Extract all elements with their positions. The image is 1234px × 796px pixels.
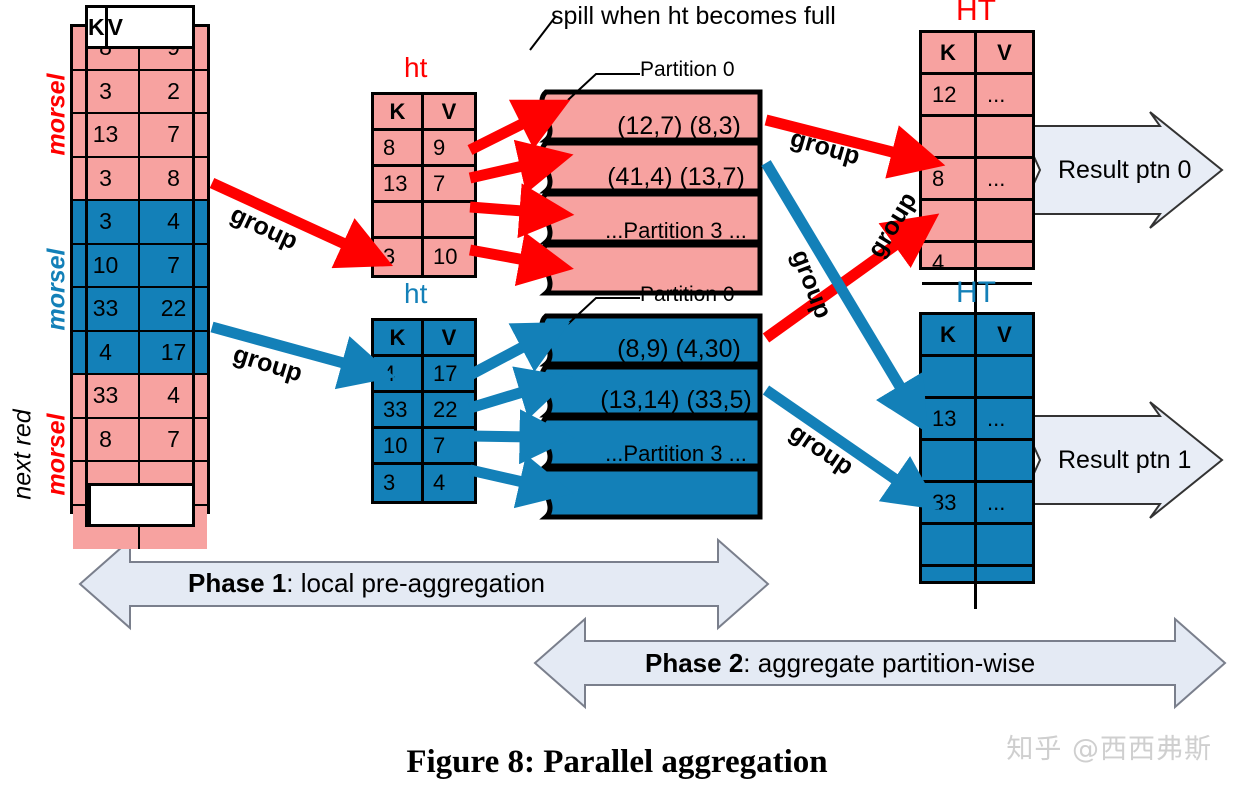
cell-v: 7 <box>424 167 474 200</box>
table-row: 3 10 <box>374 239 474 275</box>
cell-v <box>977 567 1032 609</box>
table-row: 10 7 <box>374 429 474 465</box>
cell-v: ... <box>977 75 1032 114</box>
header-k: K <box>922 315 977 354</box>
cell-v <box>977 441 1032 480</box>
header-v: V <box>977 33 1032 72</box>
partition-block-blue-3 <box>542 469 760 517</box>
arrow-blue-ht-to-ptn-1 <box>470 388 536 408</box>
global-ht-blue: K V 13 ... 33 ... <box>919 312 1035 584</box>
cell-k <box>374 203 424 236</box>
partition-block-text-red-1: (41,4) (13,7) <box>596 163 756 192</box>
cell-k <box>922 201 977 240</box>
cell-k: 13 <box>922 399 977 438</box>
partition-block-text-red-3: ...Partition 3 ... <box>596 218 756 244</box>
result-ptn-0-label: Result ptn 0 <box>1058 156 1191 185</box>
table-row: 33 22 <box>374 393 474 429</box>
cell-v: 17 <box>424 357 474 390</box>
table-row: 3 4 <box>374 465 474 501</box>
cell-k <box>88 486 91 524</box>
phase-1-sep: : <box>286 568 300 598</box>
table-row <box>374 203 474 239</box>
partition-block-text-blue-3: ...Partition 3 ... <box>596 441 756 467</box>
table-row <box>922 201 1032 243</box>
spill-annotation: spill when ht becomes full <box>551 2 836 31</box>
arrow-red-ht-to-ptn-2 <box>470 207 536 212</box>
result-ptn-1-label: Result ptn 1 <box>1058 446 1191 475</box>
header-k: K <box>922 33 977 72</box>
table-row: 13 7 <box>374 167 474 203</box>
cell-k: 4 <box>374 357 424 390</box>
cell-v <box>424 203 474 236</box>
cell-k: 3 <box>374 239 424 275</box>
ht-title-red: ht <box>404 52 427 84</box>
cell-v: 7 <box>424 429 474 462</box>
partition-block-text-red-0: (12,7) (8,3) <box>604 112 754 141</box>
phase-2-label: Phase 2: aggregate partition-wise <box>645 648 1035 679</box>
phase-2-sep: : <box>743 648 757 678</box>
cell-k: 8 <box>922 159 977 198</box>
table-header-row: K V <box>922 315 1032 357</box>
arrow-blue-ht-to-ptn-2 <box>470 436 536 437</box>
table-row: 8 ... <box>922 159 1032 201</box>
global-ht-red: K V 12 ... 8 ... 4 ... <box>919 30 1035 270</box>
cell-k: 3 <box>374 465 424 501</box>
cell-v: 10 <box>424 239 474 275</box>
phase-2-text: aggregate partition-wise <box>758 648 1036 678</box>
cell-v: 9 <box>424 131 474 164</box>
watermark: 知乎 @西西弗斯 <box>1006 727 1212 766</box>
table-header-row: K V <box>374 321 474 357</box>
group-label-2: group <box>230 340 306 388</box>
arrow-red-ht-to-ptn-1 <box>470 163 536 178</box>
cell-k: 33 <box>374 393 424 426</box>
cell-k <box>922 357 977 396</box>
cell-k: 10 <box>374 429 424 462</box>
phase-1-name: Phase 1 <box>188 568 286 598</box>
cell-k <box>922 567 977 609</box>
arrow-red-ptn1-to-blue-ht <box>766 163 908 400</box>
partition0-label-blue: Partition 0 <box>640 283 735 307</box>
table-row: 12 ... <box>922 75 1032 117</box>
table-row <box>922 525 1032 567</box>
cell-v: ... <box>977 159 1032 198</box>
arrow-blue-ht-to-ptn-3 <box>470 470 536 485</box>
group-label-4: group <box>785 246 837 323</box>
group-label-3: group <box>787 124 863 171</box>
cell-k: 33 <box>922 483 977 522</box>
cell-k: 13 <box>374 167 424 200</box>
cell-v: ... <box>977 483 1032 522</box>
cell-v <box>977 525 1032 564</box>
morsel-label-3: morsel <box>42 414 71 496</box>
table-row: 4 17 <box>374 357 474 393</box>
header-v: V <box>977 315 1032 354</box>
phase-1-text: local pre-aggregation <box>301 568 545 598</box>
cell-v <box>977 201 1032 240</box>
partition0-label-red: Partition 0 <box>640 58 735 82</box>
cell-k <box>922 117 977 156</box>
cell-k <box>922 525 977 564</box>
source-table-header: K V <box>85 5 195 49</box>
table-row <box>922 117 1032 159</box>
phase-1-label: Phase 1: local pre-aggregation <box>188 568 545 599</box>
header-v: V <box>424 95 474 128</box>
header-k: K <box>88 8 108 46</box>
table-header-row: K V <box>374 95 474 131</box>
local-ht-blue: K V 4 17 33 22 10 7 3 4 <box>371 318 477 504</box>
arrow-red-ht-to-ptn-3 <box>470 250 536 262</box>
partition0-leader-blue <box>568 298 640 324</box>
cell-k: 8 <box>374 131 424 164</box>
ht-title-blue: ht <box>404 278 427 310</box>
phase-2-name: Phase 2 <box>645 648 743 678</box>
local-ht-red: K V 8 9 13 7 3 10 <box>371 92 477 278</box>
cell-k: 12 <box>922 75 977 114</box>
morsel-label-1: morsel <box>42 74 71 156</box>
cell-v: 4 <box>424 465 474 501</box>
cell-k <box>922 441 977 480</box>
partition-block-text-blue-1: (13,14) (33,5) <box>596 386 756 415</box>
table-row <box>922 357 1032 399</box>
cell-v <box>977 117 1032 156</box>
cell-v <box>977 357 1032 396</box>
group-label-5: group <box>862 187 923 263</box>
source-table-footer-row <box>85 483 195 527</box>
group-label-1: group <box>226 200 302 256</box>
table-row: 13 ... <box>922 399 1032 441</box>
cell-v: ... <box>977 399 1032 438</box>
table-row <box>922 567 1032 609</box>
header-k: K <box>374 321 424 354</box>
partition-block-text-blue-0: (8,9) (4,30) <box>604 335 754 364</box>
morsel-label-2: morsel <box>42 249 71 331</box>
partition0-leader-red <box>568 74 640 100</box>
source-table-outline <box>85 5 195 527</box>
header-v: V <box>108 8 123 46</box>
header-v: V <box>424 321 474 354</box>
header-k: K <box>374 95 424 128</box>
next-red-label: next red <box>9 409 38 499</box>
group-label-6: group <box>784 418 859 482</box>
table-row: 33 ... <box>922 483 1032 525</box>
figure-canvas: 8 9 3 2 13 7 3 8 3 4 10 7 33 22 4 17 <box>0 0 1234 796</box>
arrow-red-ht-to-ptn-0 <box>470 117 536 150</box>
global-ht-title-red: HT <box>956 0 996 28</box>
cell-v: 22 <box>424 393 474 426</box>
table-header-row: K V <box>922 33 1032 75</box>
arrow-blue-ht-to-ptn-0 <box>470 340 536 375</box>
table-row <box>922 441 1032 483</box>
table-row: 8 9 <box>374 131 474 167</box>
global-ht-title-blue: HT <box>956 276 996 310</box>
